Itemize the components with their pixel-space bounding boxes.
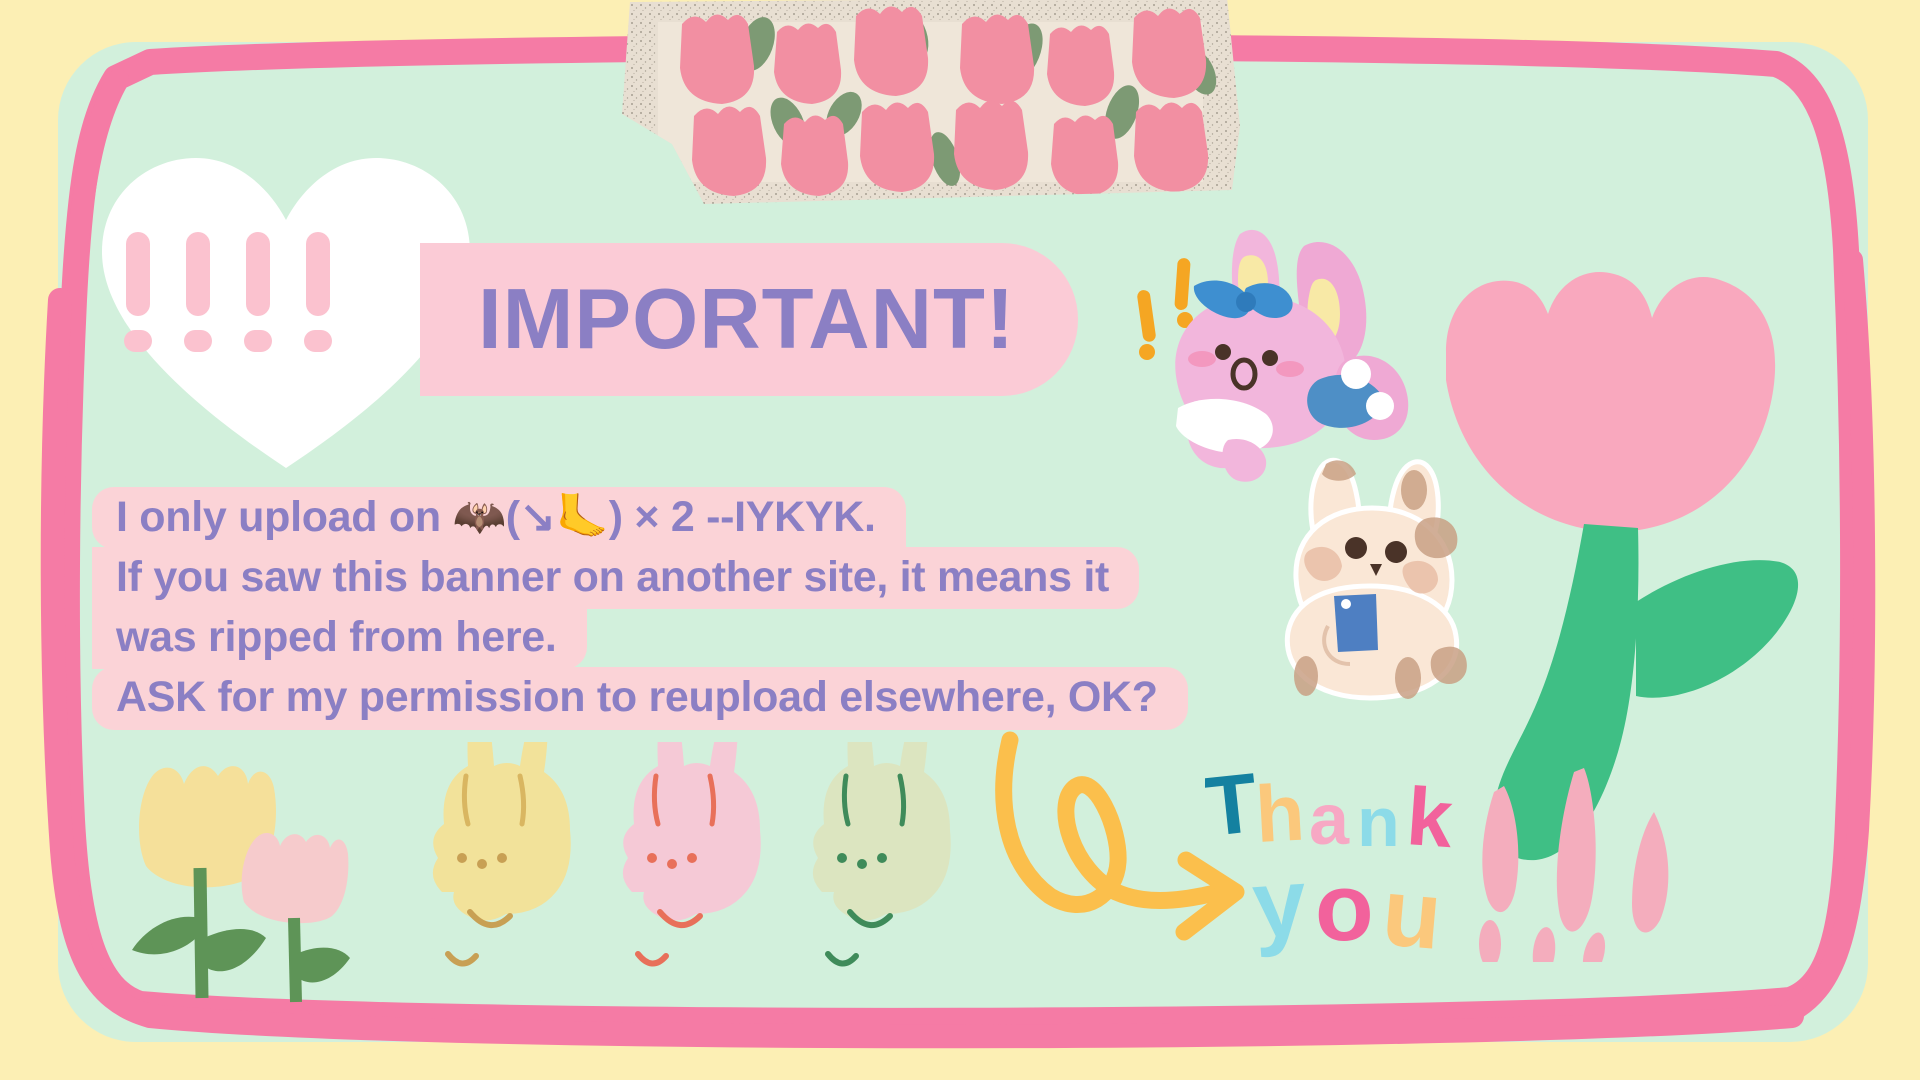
bunny-cookie-green-icon — [813, 742, 951, 964]
pink-tulip-icon — [242, 833, 350, 1002]
notice-line-2: If you saw this banner on another site, … — [92, 547, 1139, 609]
page-title: IMPORTANT! — [478, 277, 1015, 362]
bunny-cookie-yellow-icon — [433, 742, 571, 964]
bunny-cookie-pink-icon — [623, 742, 761, 964]
thankyou-letter-n: n — [1357, 783, 1400, 861]
white-heart-icon — [96, 150, 476, 480]
thankyou-letter-h: h — [1253, 768, 1306, 859]
tulip-pair-icon — [88, 748, 358, 1008]
bunny-body — [1175, 230, 1408, 482]
banner-canvas: IMPORTANT! I only upload on 🦇(↘🦶) × 2 --… — [0, 0, 1920, 1080]
thankyou-letter-a: a — [1309, 780, 1350, 860]
notice-line-1: I only upload on 🦇(↘🦶) × 2 --IYKYK. — [92, 487, 906, 549]
tulip-petal-specks — [1479, 768, 1668, 962]
washi-tape-icon — [612, 0, 1252, 216]
bunny-cookies-row — [400, 742, 970, 992]
important-heading-pill: IMPORTANT! — [420, 243, 1078, 396]
thankyou-letter-o: o — [1315, 854, 1374, 961]
thankyou-letter-y: y — [1249, 848, 1310, 958]
bunny-with-phone-icon — [1266, 456, 1491, 711]
notice-text-block: I only upload on 🦇(↘🦶) × 2 --IYKYK. If y… — [92, 487, 1182, 730]
flying-bunny-icon — [1118, 228, 1423, 493]
notice-line-3: was ripped from here. — [92, 607, 587, 669]
